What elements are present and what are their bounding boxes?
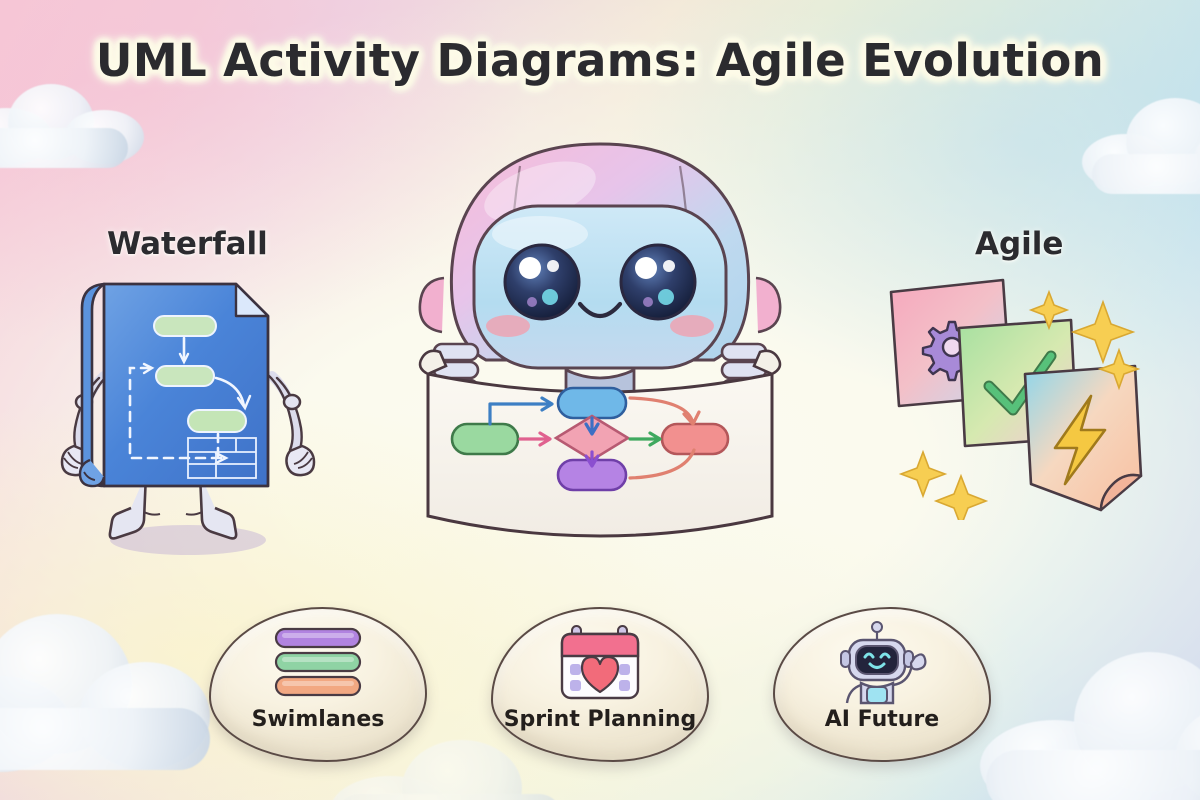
sparkle-icon: [936, 476, 986, 520]
waterfall-character: [60, 268, 320, 558]
swimlanes-icon: [270, 621, 366, 705]
badge-label: Swimlanes: [252, 707, 385, 732]
badge-sprint-planning[interactable]: Sprint Planning: [491, 607, 709, 762]
sparkle-icon: [901, 452, 945, 496]
node-action-1: [558, 388, 626, 418]
badge-label: Sprint Planning: [504, 707, 697, 732]
feature-badge-row: Swimlanes Sprint Planning: [0, 607, 1200, 762]
robot-blush-right: [670, 315, 714, 337]
label-waterfall: Waterfall: [107, 226, 268, 262]
agile-sticky-notes: [885, 270, 1175, 520]
sparkle-icon: [1073, 302, 1133, 362]
node-start: [452, 424, 518, 454]
ai-robot-with-activity-diagram: [390, 130, 810, 580]
page-title: UML Activity Diagrams: Agile Evolution: [0, 34, 1200, 87]
sticky-note-lightning: [1025, 366, 1141, 510]
cloud-top-left: [0, 78, 160, 164]
calendar-heart-icon: [554, 621, 646, 705]
badge-label: AI Future: [825, 707, 939, 732]
waving-robot-icon: [833, 621, 931, 705]
badge-ai-future[interactable]: AI Future: [773, 607, 991, 762]
illustration-canvas: UML Activity Diagrams: Agile Evolution W…: [0, 0, 1200, 800]
robot-blush-left: [486, 315, 530, 337]
badge-swimlanes[interactable]: Swimlanes: [209, 607, 427, 762]
cloud-top-right: [1082, 96, 1200, 192]
label-agile: Agile: [975, 226, 1063, 262]
blueprint-document: [80, 284, 268, 486]
